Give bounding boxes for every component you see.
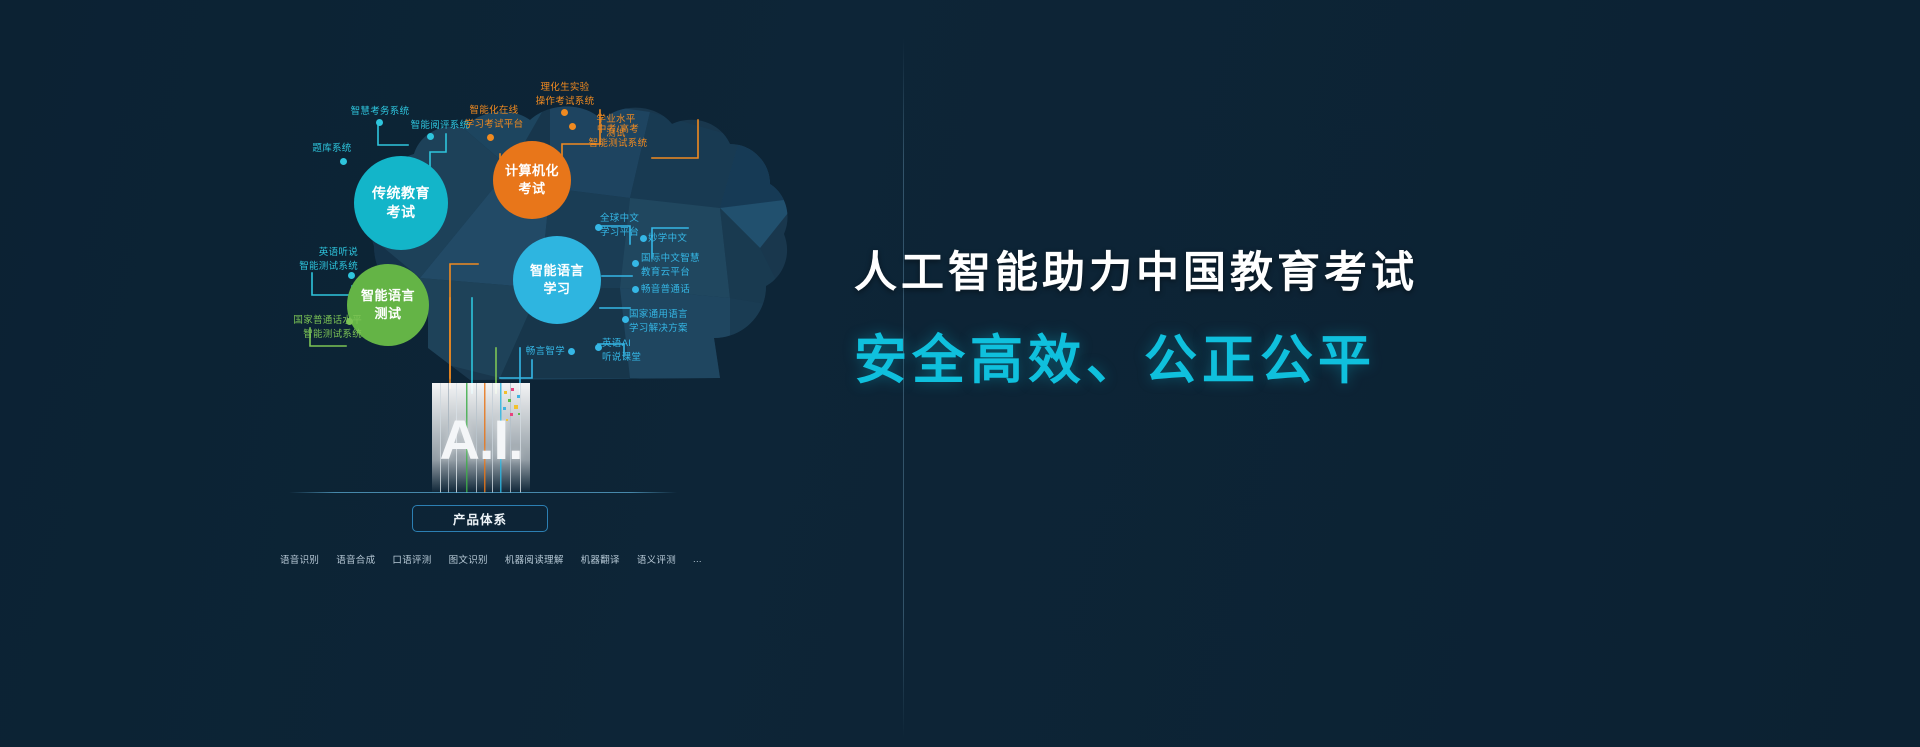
leaf-label-teaching-smart: 畅言智学	[505, 345, 565, 359]
leaf-label-lab-operation-exam: 理化生实验 操作考试系统	[522, 81, 608, 109]
leaf-label-english-listening-speaking: 英语听说 智能测试系统	[278, 246, 358, 274]
leaf-label-smart-exam-affairs: 智慧考务系统	[340, 105, 420, 119]
baseline-divider	[289, 492, 677, 493]
product-system-label: 产品体系	[453, 509, 507, 528]
leaf-dot-putonghua-level	[346, 318, 353, 325]
leaf-label-learn-chinese: 妙学中文	[648, 232, 708, 246]
node-smart-language-learning[interactable]: 智能语言 学习	[513, 236, 601, 324]
node-computerized-exam[interactable]: 计算机化 考试	[493, 141, 571, 219]
tag-semantic-assessment[interactable]: 语义评测	[637, 552, 676, 566]
tag-ocr[interactable]: 图文识别	[449, 552, 488, 566]
leaf-dot-teaching-smart	[568, 348, 575, 355]
leaf-label-changyin-putonghua: 畅音普通话	[641, 283, 711, 297]
tag-more[interactable]: ...	[693, 554, 702, 565]
leaf-dot-learn-chinese	[640, 235, 647, 242]
leaf-dot-exam-cluster	[569, 123, 576, 130]
tag-machine-translation[interactable]: 机器翻译	[581, 552, 620, 566]
leaf-dot-smart-marking	[427, 133, 434, 140]
leaf-dot-intl-chinese-cloud	[632, 260, 639, 267]
tag-speech-synthesis[interactable]: 语音合成	[336, 552, 375, 566]
tag-speech-recognition[interactable]: 语音识别	[280, 552, 319, 566]
leaf-label-zhongkao-gaokao: 中考/高考 智能测试系统	[578, 123, 658, 151]
hero-headline: 人工智能助力中国教育考试	[854, 238, 1418, 300]
tag-machine-reading[interactable]: 机器阅读理解	[505, 552, 564, 566]
product-system-button[interactable]: 产品体系	[412, 505, 548, 532]
tag-oral-assessment[interactable]: 口语评测	[392, 552, 431, 566]
ai-logo-text: A.I.	[432, 407, 530, 472]
diagram-panel: 传统教育 考试 计算机化 考试 智能语言 学习 智能语言 测试 智慧考务系统 智	[0, 0, 905, 747]
leaf-dot-smart-exam-affairs	[376, 119, 383, 126]
leaf-label-intl-chinese-cloud: 国际中文智慧 教育云平台	[641, 252, 727, 280]
leaf-dot-english-listening-speaking	[348, 272, 355, 279]
leaf-label-english-ai-listening-speaking: 英语AI 听说课堂	[602, 337, 662, 365]
leaf-dot-lab-operation-exam	[561, 109, 568, 116]
leaf-dot-online-learning-exam	[487, 134, 494, 141]
leaf-dot-changyin-putonghua	[632, 286, 639, 293]
node-label-line1: 传统教育	[372, 184, 430, 203]
hero-banner: 传统教育 考试 计算机化 考试 智能语言 学习 智能语言 测试 智慧考务系统 智	[0, 0, 1920, 747]
hero-subline: 安全高效、公正公平	[854, 318, 1374, 394]
node-label-line1: 计算机化	[505, 162, 559, 180]
node-label-line1: 智能语言	[361, 287, 415, 305]
node-label-line2: 考试	[372, 203, 430, 222]
leaf-label-national-language-solution: 国家通用语言 学习解决方案	[629, 308, 711, 336]
leaf-dot-item-bank	[340, 158, 347, 165]
ai-logo-block: A.I.	[432, 383, 530, 493]
node-label-line2: 学习	[530, 280, 584, 298]
leaf-dot-english-ai-listening-speaking	[595, 344, 602, 351]
leaf-dot-national-language-solution	[622, 316, 629, 323]
node-label-line2: 考试	[505, 180, 559, 198]
leaf-dot-global-chinese-platform	[595, 224, 602, 231]
capability-tag-row: 语音识别 语音合成 口语评测 图文识别 机器阅读理解 机器翻译 语义评测 ...	[280, 552, 680, 566]
node-traditional-education-exam[interactable]: 传统教育 考试	[354, 156, 448, 250]
leaf-label-item-bank: 题库系统	[300, 142, 364, 156]
node-label-line1: 智能语言	[530, 262, 584, 280]
node-label-line2: 测试	[361, 305, 415, 323]
